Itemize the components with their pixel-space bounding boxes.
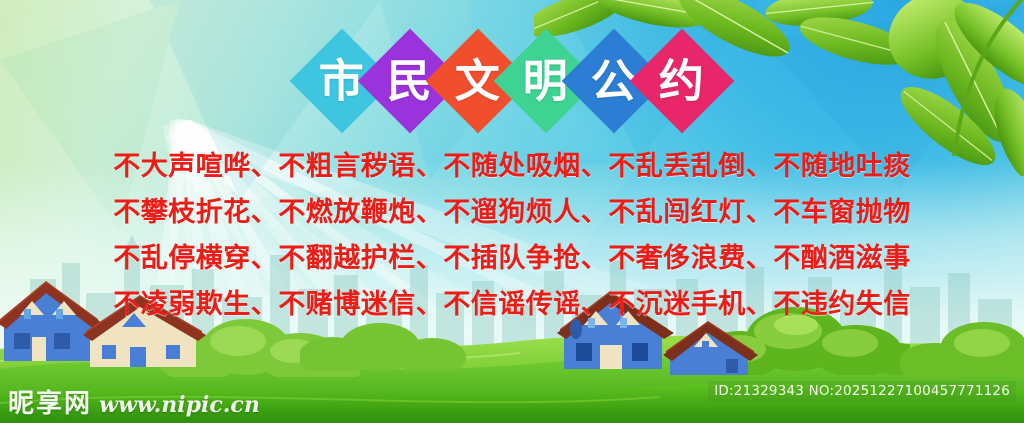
image-id-text: ID:21329343 NO:20251227100457771126 <box>708 381 1016 401</box>
slogan-line-4: 不凌弱欺生、不赌博迷信、不信谣传谣、不沉迷手机、不违约失信 <box>113 286 911 324</box>
title-diamond-row: 市 民 文 明 公 约 <box>0 44 1024 118</box>
poster-canvas: 市 民 文 明 公 约 不大声喧哗、不粗言秽语、不随处吸烟、不乱丢乱倒、不随地吐… <box>0 0 1024 423</box>
house-small-right <box>660 317 760 383</box>
bush-decor <box>300 319 470 371</box>
title-char-5: 约 <box>659 58 704 103</box>
watermark-url: www.nipic.cn <box>99 394 260 417</box>
slogan-line-3: 不乱停横穿、不翻越护栏、不插队争抢、不奢侈浪费、不酗酒滋事 <box>113 240 911 278</box>
slogan-line-1: 不大声喧哗、不粗言秽语、不随处吸烟、不乱丢乱倒、不随地吐痰 <box>113 148 911 186</box>
watermark: 昵享网 www.nipic.cn <box>8 391 260 417</box>
slogan-line-2: 不攀枝折花、不燃放鞭炮、不遛狗烦人、不乱闯红灯、不车窗抛物 <box>113 194 911 232</box>
slogan-list: 不大声喧哗、不粗言秽语、不随处吸烟、不乱丢乱倒、不随地吐痰 不攀枝折花、不燃放鞭… <box>0 148 1024 324</box>
watermark-site-name: 昵享网 <box>8 391 92 417</box>
bush-decor <box>900 317 1024 379</box>
title-diamond-5: 约 <box>630 29 735 134</box>
